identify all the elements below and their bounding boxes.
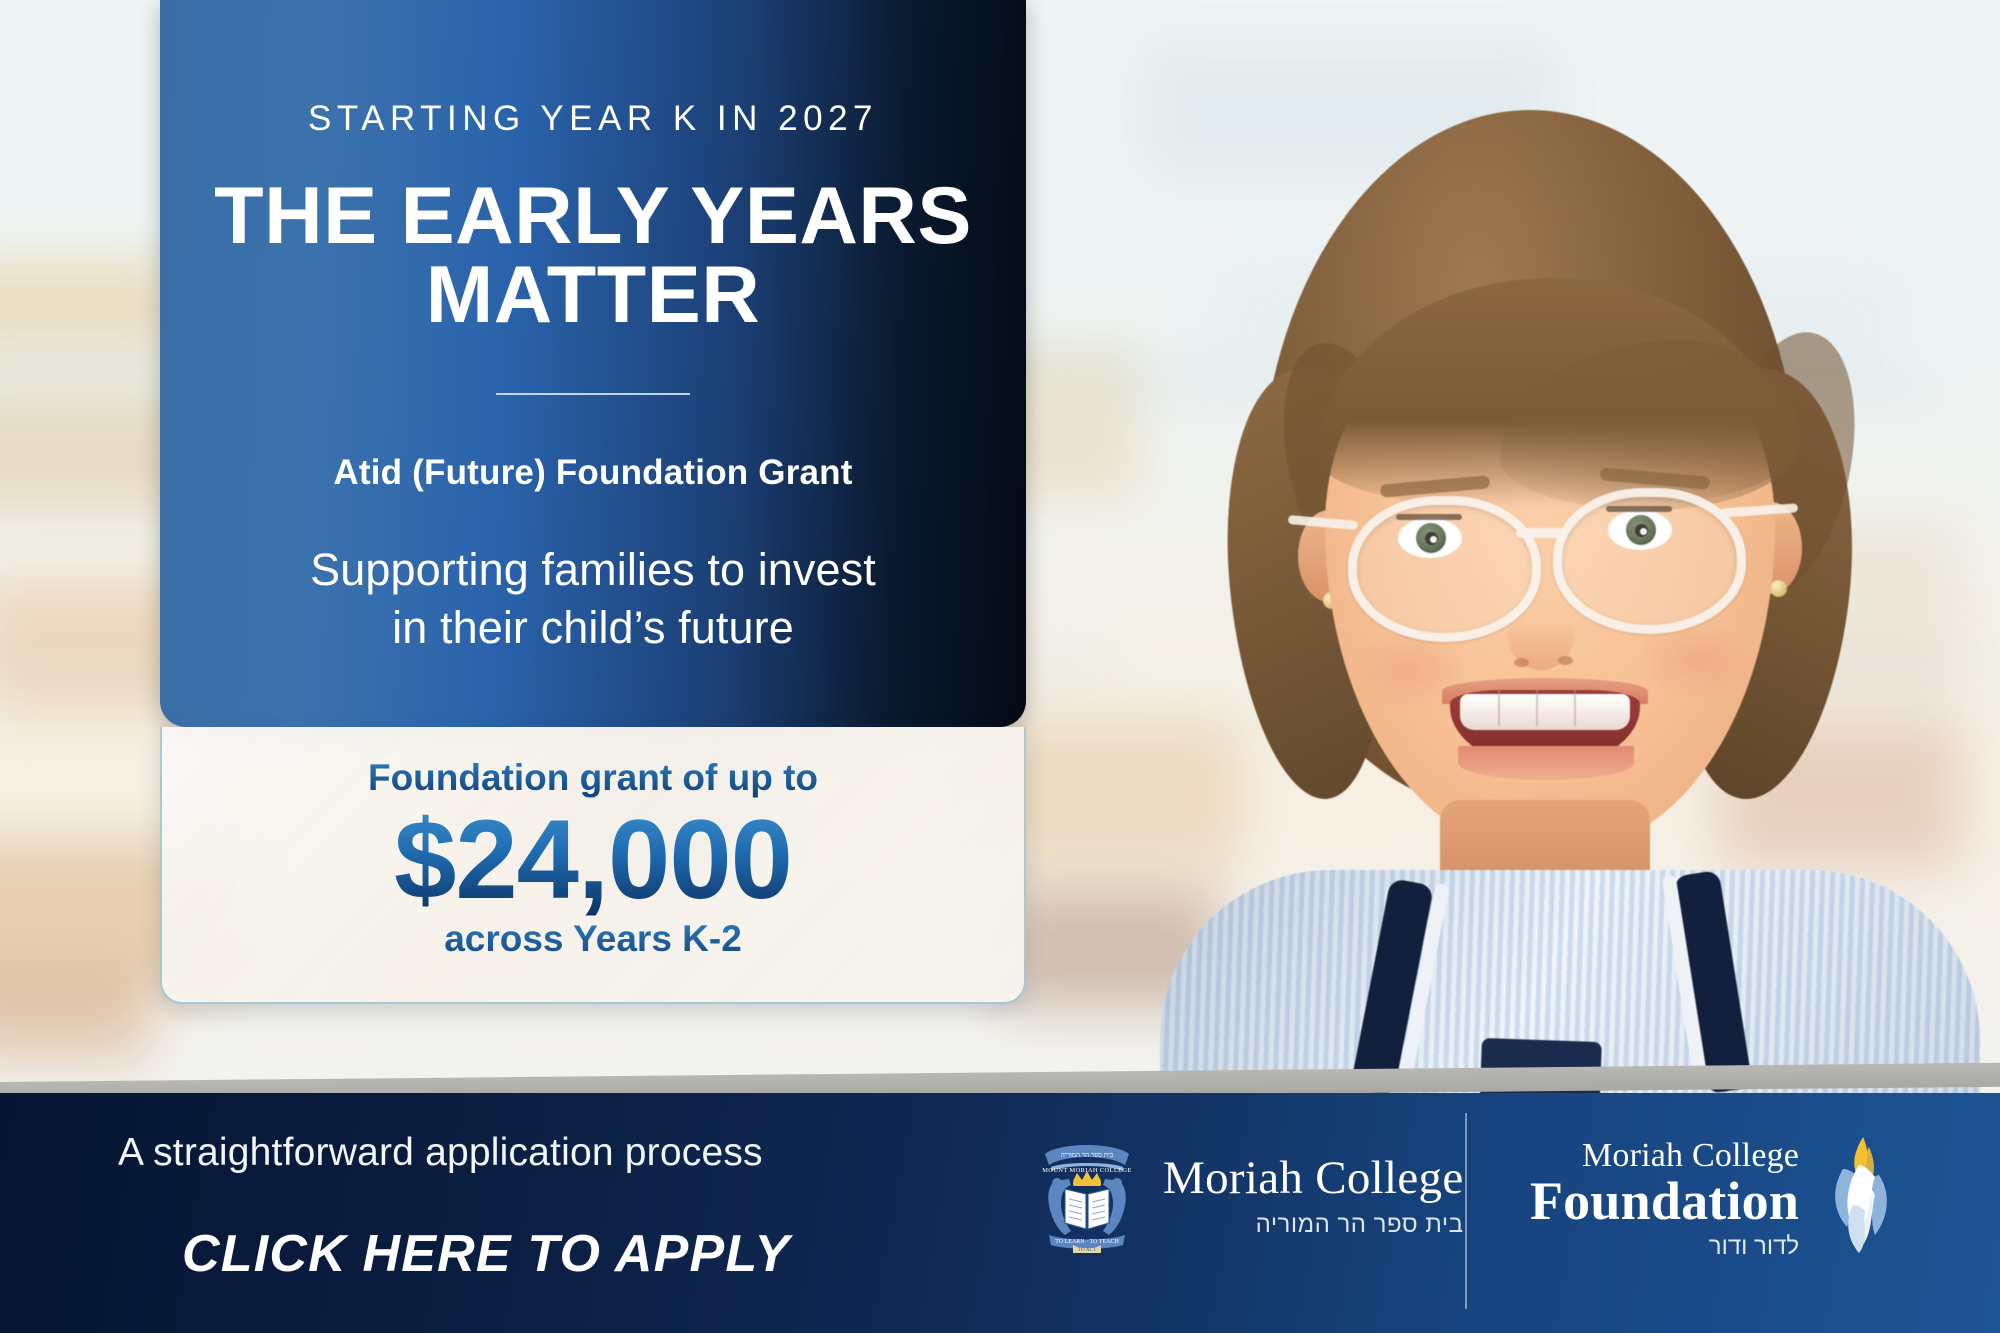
foundation-name-line-1: Moriah College: [1530, 1138, 1799, 1174]
page-title: THE EARLY YEARS MATTER: [202, 177, 984, 336]
moriah-college-name-hebrew: בית ספר הר המוריה: [1163, 1211, 1464, 1239]
earring-icon: [1770, 580, 1787, 597]
flame-icon: [1813, 1135, 1905, 1257]
grant-card-label: Foundation grant of up to: [162, 757, 1024, 799]
cta-block[interactable]: A straightforward application process CL…: [0, 1093, 1000, 1333]
logo-divider: [1465, 1113, 1467, 1309]
headline-line-2: MATTER: [202, 256, 984, 335]
grant-amount-value: $24,000: [162, 797, 1024, 922]
svg-text:TO ACT: TO ACT: [1078, 1247, 1098, 1253]
support-text: Supporting families to invest in their c…: [202, 541, 984, 656]
grant-amount-card: Foundation grant of up to $24,000 across…: [160, 727, 1026, 1004]
logo-lockup: בית ספר הר המוריה MOUNT MORIAH COLLEGE: [1010, 1093, 2000, 1333]
foundation-name-hebrew: לדור ודור: [1530, 1233, 1799, 1261]
cta-subtext: A straightforward application process: [118, 1131, 763, 1175]
heraldic-crest-icon: בית ספר הר המוריה MOUNT MORIAH COLLEGE: [1035, 1141, 1139, 1253]
moriah-foundation-logo[interactable]: Moriah College Foundation לדור ודור: [1530, 1135, 1905, 1261]
eyebrow-text: STARTING YEAR K IN 2027: [202, 100, 984, 139]
support-line-2: in their child’s future: [202, 599, 984, 657]
moriah-college-logo[interactable]: בית ספר הר המוריה MOUNT MORIAH COLLEGE: [1035, 1141, 1464, 1253]
headline-line-1: THE EARLY YEARS: [202, 177, 984, 256]
moriah-college-name: Moriah College: [1163, 1155, 1464, 1202]
grant-name: Atid (Future) Foundation Grant: [202, 453, 984, 493]
apply-link[interactable]: CLICK HERE TO APPLY: [182, 1224, 790, 1284]
support-line-1: Supporting families to invest: [202, 541, 984, 599]
advertisement-banner: STARTING YEAR K IN 2027 THE EARLY YEARS …: [0, 0, 2000, 1333]
svg-text:TO LEARN · TO TEACH: TO LEARN · TO TEACH: [1055, 1239, 1119, 1245]
divider: [496, 393, 690, 395]
svg-text:בית ספר הר המוריה: בית ספר הר המוריה: [1061, 1151, 1114, 1159]
headline-panel: STARTING YEAR K IN 2027 THE EARLY YEARS …: [160, 0, 1026, 727]
schoolgirl-portrait: [1080, 40, 1980, 1100]
foundation-name-line-2: Foundation: [1530, 1174, 1799, 1229]
grant-card-sublabel: across Years K-2: [162, 918, 1024, 960]
footer-bar: A straightforward application process CL…: [0, 1093, 2000, 1333]
